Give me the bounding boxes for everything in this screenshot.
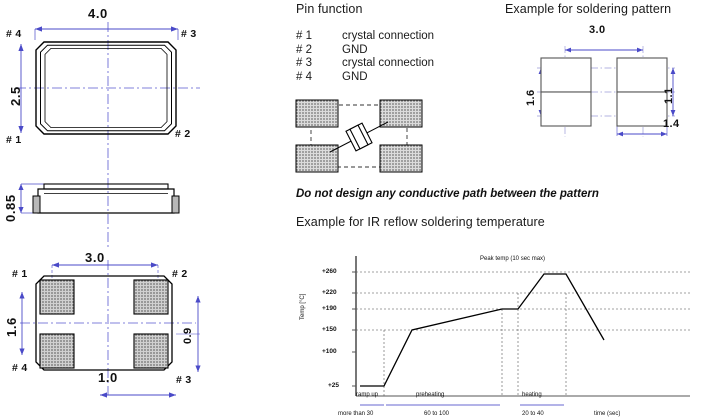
pin-number: # 2 [296,44,342,58]
solder-pad-height-dim: 1.1 [663,88,675,105]
side-body [38,189,174,213]
crystal-symbol [346,123,372,151]
side-view-height-dim: 0.85 [3,194,18,222]
bottom-view-drawing: 3.0 1.6 0.9 1.0 # 1 # 2 # 4 # 3 [0,250,280,418]
pin-description: GND [342,44,368,56]
solder-pad-4 [541,92,591,126]
conductive-path-illustration [296,100,422,172]
bottom-view-pad-height-dim: 0.9 [182,328,194,345]
soldering-pattern-section: Example for soldering pattern [505,2,710,16]
chart-zone-label: ramp up [356,392,378,398]
ir-reflow-heading: Example for IR reflow soldering temperat… [296,215,545,229]
chart-zone-time: 60 to 100 [424,411,449,417]
side-terminal-right [172,196,179,213]
illustration-pad-3 [380,145,422,172]
no-conductive-path-note: Do not design any conductive path betwee… [296,188,599,200]
chart-ytick: +190 [322,305,337,312]
side-view-drawing: 0.85 [0,160,280,250]
chart-zone-time: 20 to 40 [522,411,544,417]
width-dimension-line [35,26,178,40]
chart-x-axis-label: time (sec) [594,411,620,417]
pin-number: # 3 [296,57,342,71]
chart-ytick: +100 [322,348,337,355]
solder-pad-width-dim: 1.4 [663,118,680,130]
pin-number: # 1 [296,30,342,44]
chart-ytick: +220 [322,289,337,296]
solder-width-dim: 3.0 [589,24,606,36]
solder-width-dimension [565,48,643,53]
chart-zone-label: preheating [416,392,444,398]
chart-zone-label: heating [522,392,542,398]
soldering-pattern-drawing: 3.0 1.6 1.1 1.4 [505,22,710,147]
solder-pad-3 [617,92,667,126]
pin-number: # 4 [296,71,342,85]
pin-function-row: # 1crystal connection [296,30,496,44]
chart-peak-annotation: Peak temp (10 sec max) [480,256,545,262]
solder-height-dim: 1.6 [525,90,537,107]
top-view-pin-1: # 1 [6,134,22,146]
bottom-pad-width-dimension [100,392,176,397]
solder-pad-1 [541,58,591,92]
bottom-view-height-dim: 1.6 [4,317,19,337]
chart-zone-separators [384,293,566,396]
pin-function-section: Pin function # 1crystal connection # 2GN… [296,2,496,84]
illustration-pad-1 [296,100,338,127]
bottom-view-pin-2: # 2 [172,268,188,280]
pin-function-row: # 4GND [296,71,496,85]
chart-gridlines [356,272,690,330]
pin-description: crystal connection [342,30,434,42]
chart-zone-time: more than 30 [338,411,373,417]
bottom-view-pad-width-dim: 1.0 [98,370,118,385]
bottom-height-dimension [19,292,24,355]
side-terminal-left [33,196,40,213]
top-view-width-dim: 4.0 [88,6,108,21]
pin-function-row: # 3crystal connection [296,57,496,71]
ir-reflow-chart: Temp [°C] +260 +220 +190 +150 +100 +25 P… [294,248,710,418]
bottom-view-pin-3: # 3 [176,374,192,386]
top-view-pin-3: # 3 [181,28,197,40]
soldering-pattern-heading: Example for soldering pattern [505,2,710,16]
pin-function-row: # 2GND [296,44,496,58]
top-view-pin-4: # 4 [6,28,22,40]
side-lid [44,184,168,189]
top-view-drawing: 4.0 2.5 # 4 # 3 # 1 # 2 [0,0,280,160]
solder-pad-2 [617,58,667,92]
top-view-height-dim: 2.5 [8,86,23,106]
illustration-pad-4 [296,145,338,172]
bottom-pad-3 [134,334,168,368]
chart-ytick: +150 [322,326,337,333]
bottom-pad-4 [40,334,74,368]
bottom-pad-2 [134,280,168,314]
chart-ytick: +260 [322,268,337,275]
pin-function-heading: Pin function [296,2,496,16]
pin-description: GND [342,71,368,83]
chart-ytick: +25 [328,382,339,389]
pin-description: crystal connection [342,57,434,69]
chart-y-axis-label: Temp [°C] [300,294,306,320]
bottom-view-span-dim: 3.0 [85,250,105,265]
bottom-pad-1 [40,280,74,314]
bottom-view-pin-4: # 4 [12,362,28,374]
bottom-view-pin-1: # 1 [12,268,28,280]
pin-function-list: # 1crystal connection # 2GND # 3crystal … [296,30,496,84]
top-view-pin-2: # 2 [175,128,191,140]
